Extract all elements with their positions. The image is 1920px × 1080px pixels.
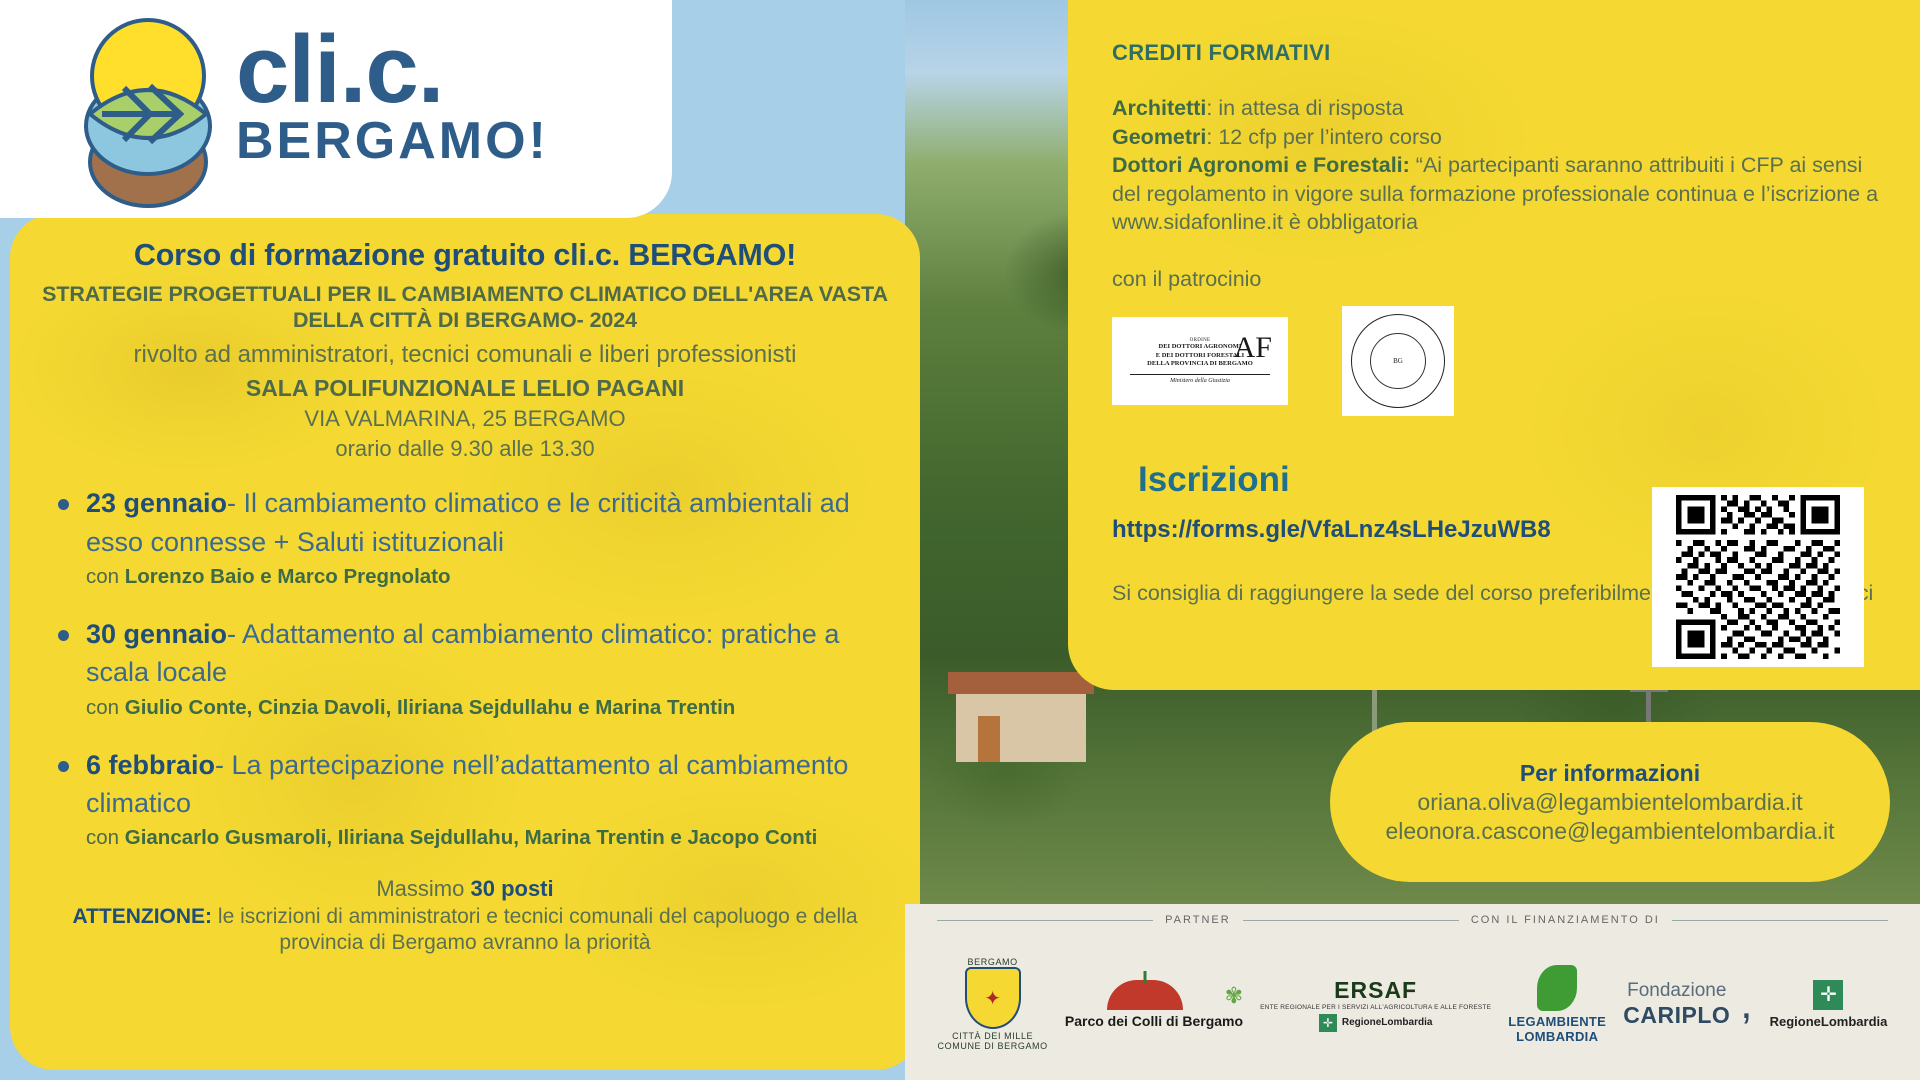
session-date: 30 gennaio [86, 619, 227, 649]
session-speakers-prefix: con [86, 826, 125, 849]
course-subtitle-line2: DELLA CITTÀ DI BERGAMO- 2024 [36, 307, 894, 333]
divider [937, 920, 1153, 921]
regione-lombardia-name: RegioneLombardia [1770, 1014, 1888, 1029]
geometri-seal-icon: BG [1351, 314, 1445, 408]
session-line: 23 gennaio- Il cambiamento climatico e l… [42, 484, 894, 561]
comune-sub: COMUNE DI BERGAMO [938, 1041, 1048, 1051]
photo-house-door [978, 716, 1000, 762]
parco-hill-icon [1107, 980, 1183, 1010]
warning-label: ATTENZIONE: [72, 905, 212, 928]
ersaf-sub: ENTE REGIONALE PER I SERVIZI ALL'AGRICOL… [1260, 1004, 1491, 1011]
logo-regione-lombardia: ✛ RegioneLombardia [1770, 980, 1888, 1029]
parco-name: Parco dei Colli di Bergamo [1065, 1013, 1243, 1029]
ersaf-partner: RegioneLombardia [1342, 1017, 1433, 1028]
comune-name: CITTÀ DEI MILLE [938, 1031, 1048, 1041]
credit-value: : 12 cfp per l’intero corso [1206, 125, 1441, 149]
session-speakers-names: Giulio Conte, Cinzia Davoli, Iliriana Se… [125, 696, 736, 719]
session-item: 30 gennaio- Adattamento al cambiamento c… [42, 615, 894, 720]
legambiente-region: LOMBARDIA [1508, 1029, 1606, 1044]
cariplo-name: Fondazione [1623, 980, 1730, 1002]
contact-email-1[interactable]: oriana.oliva@legambientelombardia.it [1417, 789, 1802, 816]
course-address: VIA VALMARINA, 25 BERGAMO [36, 406, 894, 432]
footer-label-partner: PARTNER [1165, 914, 1231, 926]
parco-leaf-icon: ✾ [1225, 983, 1243, 1009]
bullet-icon [58, 499, 69, 510]
logo-fondazione-cariplo: Fondazione CARIPLO , [1623, 979, 1752, 1029]
contact-email-2[interactable]: eleonora.cascone@legambientelombardia.it [1385, 818, 1834, 845]
geometri-seal-center: BG [1370, 333, 1426, 389]
credits-heading: CREDITI FORMATIVI [1112, 40, 1890, 66]
credit-row: Geometri: 12 cfp per l’intero corso [1112, 123, 1890, 152]
geometri-logo: BG [1342, 306, 1454, 416]
ersaf-name: ERSAF [1260, 977, 1491, 1004]
logo-ersaf: ERSAF ENTE REGIONALE PER I SERVIZI ALL'A… [1260, 977, 1491, 1032]
cariplo-name2: CARIPLO [1623, 1002, 1730, 1029]
qr-code-icon[interactable] [1652, 487, 1864, 667]
cariplo-mark-icon: , [1740, 979, 1752, 1029]
contact-title: Per informazioni [1520, 760, 1700, 787]
divider [1672, 920, 1888, 921]
seats-prefix: Massimo [376, 876, 470, 901]
brand-name-primary: cli.c. [236, 26, 549, 114]
course-title: Corso di formazione gratuito cli.c. BERG… [36, 238, 894, 273]
patrocinio-label: con il patrocinio [1112, 267, 1890, 292]
credit-label: Dottori Agronomi e Forestali: [1112, 153, 1410, 177]
poster-root: cli.c. BERGAMO! Corso di formazione grat… [0, 0, 1920, 1080]
session-list: 23 gennaio- Il cambiamento climatico e l… [36, 484, 894, 850]
divider [1130, 374, 1270, 375]
credit-row: Architetti: in attesa di risposta [1112, 94, 1890, 123]
session-date: 23 gennaio [86, 488, 227, 518]
logo-legambiente: LEGAMBIENTE LOMBARDIA [1508, 965, 1606, 1044]
regione-lombardia-mark-icon: ✛ [1319, 1014, 1337, 1032]
seats-info: Massimo 30 posti [36, 876, 894, 902]
footer-logos: BERGAMO ✦ CITTÀ DEI MILLE COMUNE DI BERG… [905, 936, 1920, 1080]
agronomi-logo: ORDINE DEI DOTTORI AGRONOMI E DEI DOTTOR… [1112, 317, 1288, 405]
footer-bar: PARTNER CON IL FINANZIAMENTO DI BERGAMO … [905, 904, 1920, 1080]
session-date: 6 febbraio [86, 750, 215, 780]
brand-logo-card: cli.c. BERGAMO! [0, 0, 672, 218]
agronomi-logo-t3: Ministero della Giustizia [1170, 378, 1230, 384]
session-speakers: con Lorenzo Baio e Marco Pregnolato [42, 565, 894, 589]
bergamo-crest-icon: ✦ [965, 967, 1021, 1029]
contact-info-pill: Per informazioni oriana.oliva@legambient… [1330, 722, 1890, 882]
credit-value: : in attesa di risposta [1206, 96, 1403, 120]
session-speakers: con Giancarlo Gusmaroli, Iliriana Sejdul… [42, 826, 894, 850]
course-venue: SALA POLIFUNZIONALE LELIO PAGANI [36, 375, 894, 402]
credit-label: Architetti [1112, 96, 1206, 120]
session-line: 30 gennaio- Adattamento al cambiamento c… [42, 615, 894, 692]
photo-house-secondary [956, 692, 1086, 762]
course-details-panel: Corso di formazione gratuito cli.c. BERG… [10, 214, 920, 1070]
session-item: 6 febbraio- La partecipazione nell’adatt… [42, 746, 894, 851]
priority-warning: ATTENZIONE: le iscrizioni di amministrat… [36, 904, 894, 954]
legambiente-name: LEGAMBIENTE [1508, 1014, 1606, 1029]
course-subtitle: STRATEGIE PROGETTUALI PER IL CAMBIAMENTO… [36, 281, 894, 333]
clic-logo-mark-icon [72, 14, 224, 210]
seats-value: 30 posti [470, 876, 553, 901]
credit-row: Dottori Agronomi e Forestali: “Ai partec… [1112, 151, 1890, 237]
logo-comune-bergamo: BERGAMO ✦ CITTÀ DEI MILLE COMUNE DI BERG… [938, 957, 1048, 1051]
credits-body: Architetti: in attesa di risposta Geomet… [1112, 94, 1890, 237]
patron-logos: ORDINE DEI DOTTORI AGRONOMI E DEI DOTTOR… [1112, 306, 1890, 416]
session-speakers: con Giulio Conte, Cinzia Davoli, Ilirian… [42, 696, 894, 720]
session-speakers-prefix: con [86, 565, 125, 588]
divider [1243, 920, 1459, 921]
course-audience: rivolto ad amministratori, tecnici comun… [36, 341, 894, 369]
session-line: 6 febbraio- La partecipazione nell’adatt… [42, 746, 894, 823]
course-hours: orario dalle 9.30 alle 13.30 [36, 436, 894, 462]
course-subtitle-line1: STRATEGIE PROGETTUALI PER IL CAMBIAMENTO… [36, 281, 894, 307]
agronomi-monogram-icon: AF [1234, 331, 1272, 365]
session-speakers-prefix: con [86, 696, 125, 719]
brand-wordmark: cli.c. BERGAMO! [236, 26, 549, 169]
footer-labels: PARTNER CON IL FINANZIAMENTO DI [905, 904, 1920, 936]
legambiente-leaf-icon [1537, 965, 1577, 1011]
session-speakers-names: Giancarlo Gusmaroli, Iliriana Sejdullahu… [125, 826, 818, 849]
credit-label: Geometri [1112, 125, 1206, 149]
session-item: 23 gennaio- Il cambiamento climatico e l… [42, 484, 894, 589]
warning-text: le iscrizioni di amministratori e tecnic… [212, 905, 857, 953]
bullet-icon [58, 761, 69, 772]
brand-name-secondary: BERGAMO! [236, 114, 549, 169]
regione-lombardia-rose-icon: ✛ [1813, 980, 1843, 1010]
session-speakers-names: Lorenzo Baio e Marco Pregnolato [125, 565, 451, 588]
comune-cap: BERGAMO [938, 957, 1048, 967]
bullet-icon [58, 630, 69, 641]
footer-label-funding: CON IL FINANZIAMENTO DI [1471, 914, 1660, 926]
logo-parco-colli: ✾ Parco dei Colli di Bergamo [1065, 980, 1243, 1029]
